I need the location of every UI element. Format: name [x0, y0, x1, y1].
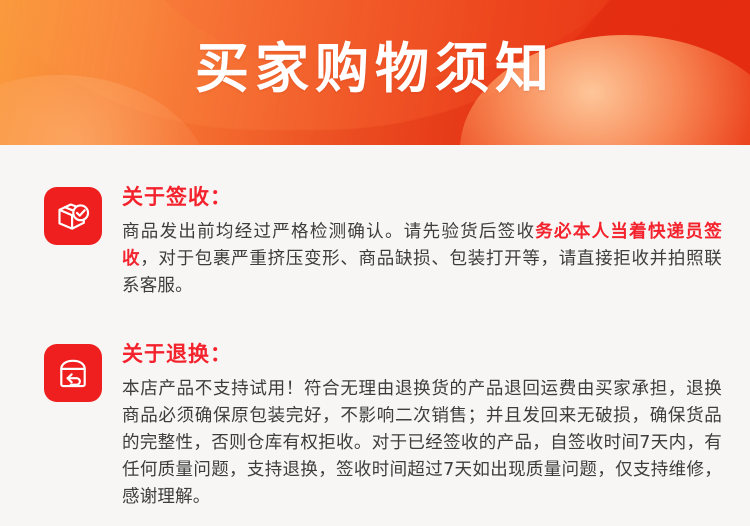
notice-content: 关于签收： 商品发出前均经过严格检测确认。请先验货后签收务必本人当着快递员签收，… [0, 145, 750, 511]
box-return-arrow-icon [44, 344, 102, 402]
section-paragraph-returns: 本店产品不支持试用！符合无理由退换货的产品退回运费由买家承担，退换商品必须确保原… [122, 376, 722, 511]
page-header-banner: 买家购物须知 [0, 0, 750, 145]
notice-section-signing: 关于签收： 商品发出前均经过严格检测确认。请先验货后签收务必本人当着快递员签收，… [0, 185, 750, 300]
section-text-part2: ，对于包裹严重挤压变形、商品缺损、包装打开等，请直接拒收并拍照联系客服。 [122, 249, 722, 296]
section-heading-returns: 关于退换： [122, 342, 740, 366]
notice-section-returns-body: 关于退换： 本店产品不支持试用！符合无理由退换货的产品退回运费由买家承担，退换商… [122, 342, 750, 511]
package-check-icon [44, 187, 102, 245]
page-title: 买家购物须知 [0, 36, 750, 102]
section-paragraph-signing: 商品发出前均经过严格检测确认。请先验货后签收务必本人当着快递员签收，对于包裹严重… [122, 219, 722, 300]
section-text-part1: 商品发出前均经过严格检测确认。请先验货后签收 [122, 222, 535, 242]
notice-section-signing-body: 关于签收： 商品发出前均经过严格检测确认。请先验货后签收务必本人当着快递员签收，… [122, 185, 750, 300]
notice-section-returns: 关于退换： 本店产品不支持试用！符合无理由退换货的产品退回运费由买家承担，退换商… [0, 342, 750, 511]
section-heading-signing: 关于签收： [122, 185, 740, 209]
section-text-part1: 本店产品不支持试用！符合无理由退换货的产品退回运费由买家承担，退换商品必须确保原… [122, 379, 722, 507]
